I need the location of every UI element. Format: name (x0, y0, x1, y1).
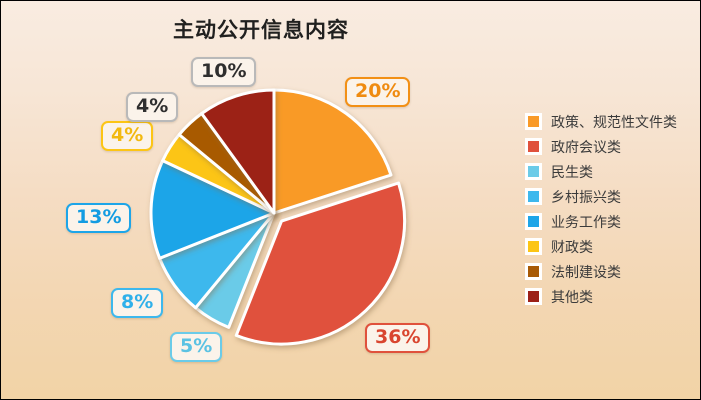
legend-swatch-icon (525, 288, 542, 305)
legend-item-label: 法制建设类 (551, 262, 621, 282)
legend: 政策、规范性文件类 政府会议类 民生类 乡村振兴类 业务工作类 财政类 法制建设… (525, 109, 695, 309)
legend-item[interactable]: 民生类 (525, 159, 695, 184)
legend-swatch-icon (525, 113, 542, 130)
legend-item[interactable]: 政府会议类 (525, 134, 695, 159)
pie-label-1: 36% (365, 323, 430, 353)
legend-item-label: 政府会议类 (551, 137, 621, 157)
legend-item[interactable]: 乡村振兴类 (525, 184, 695, 209)
chart-canvas: 主动公开信息内容 20% 36% 5% 8% 13% 4% 4% 10% 政策、… (0, 0, 701, 400)
pie-label-7: 10% (191, 57, 256, 87)
pie-label-3: 8% (111, 288, 163, 318)
pie-label-2: 5% (170, 332, 222, 362)
legend-swatch-icon (525, 213, 542, 230)
pie-slice-group (151, 90, 405, 344)
pie-label-6: 4% (126, 92, 178, 122)
legend-item[interactable]: 政策、规范性文件类 (525, 109, 695, 134)
pie-label-5: 4% (101, 121, 153, 151)
legend-swatch-icon (525, 263, 542, 280)
legend-item[interactable]: 其他类 (525, 284, 695, 309)
legend-item[interactable]: 业务工作类 (525, 209, 695, 234)
legend-item-label: 政策、规范性文件类 (551, 112, 677, 132)
legend-swatch-icon (525, 188, 542, 205)
legend-item-label: 其他类 (551, 287, 593, 307)
legend-swatch-icon (525, 163, 542, 180)
pie-label-0: 20% (345, 77, 410, 107)
page-title: 主动公开信息内容 (1, 14, 521, 44)
pie-label-4: 13% (66, 203, 131, 233)
legend-item[interactable]: 财政类 (525, 234, 695, 259)
legend-item[interactable]: 法制建设类 (525, 259, 695, 284)
legend-item-label: 民生类 (551, 162, 593, 182)
legend-item-label: 财政类 (551, 237, 593, 257)
legend-item-label: 业务工作类 (551, 212, 621, 232)
legend-swatch-icon (525, 138, 542, 155)
legend-swatch-icon (525, 238, 542, 255)
legend-item-label: 乡村振兴类 (551, 187, 621, 207)
